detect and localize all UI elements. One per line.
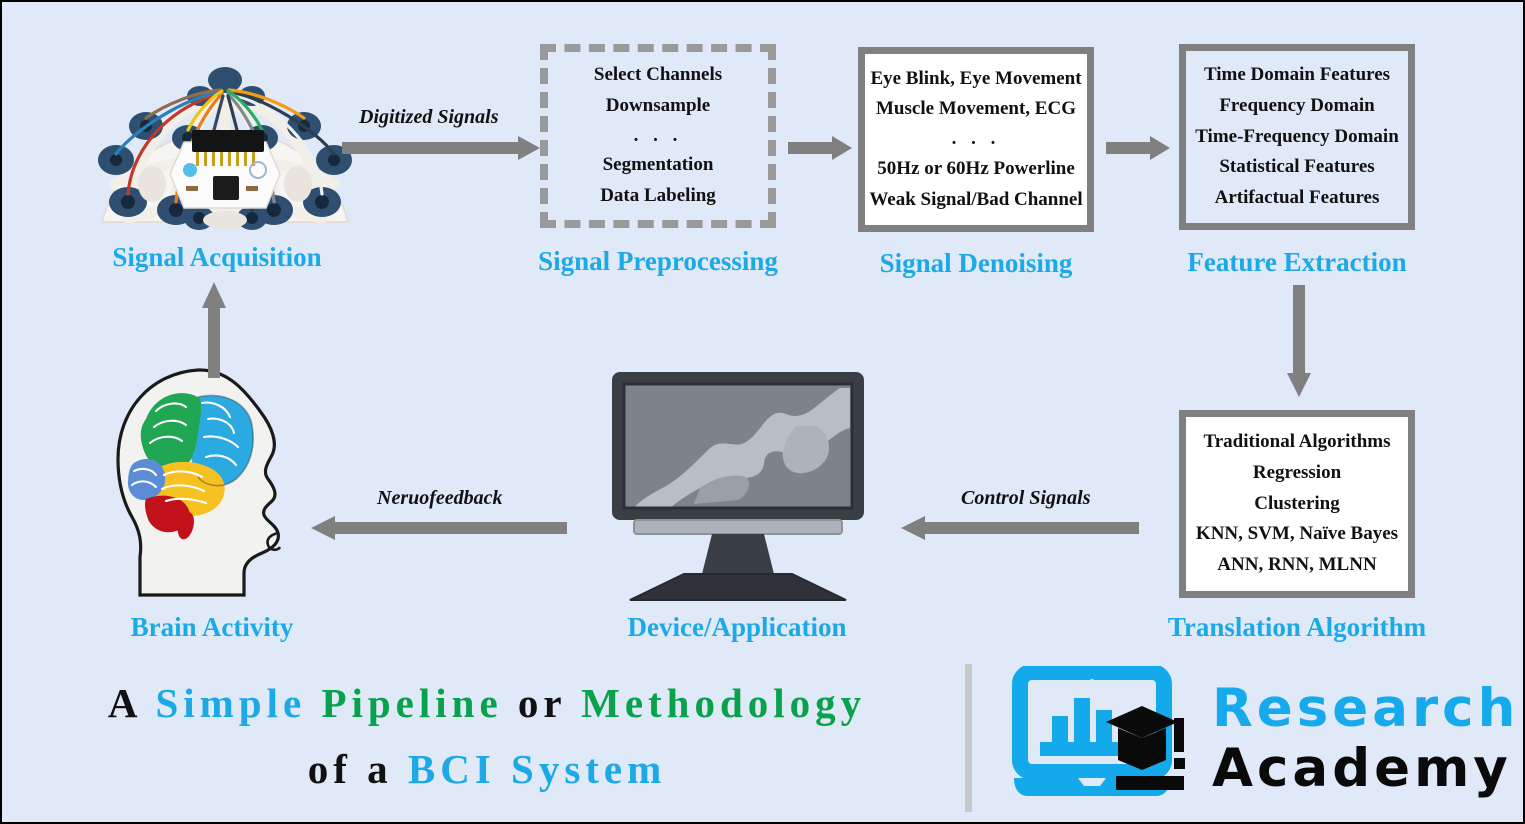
denoising-item-0: Eye Blink, Eye Movement (870, 64, 1081, 95)
stage-label-feature-extraction: Feature Extraction (1177, 247, 1417, 278)
preprocessing-item-1: Downsample (606, 91, 711, 122)
arrow-label-digitized-signals: Digitized Signals (359, 106, 498, 129)
translation-item-3: KNN, SVM, Naïve Bayes (1196, 519, 1398, 550)
logo-text-research: Research (1212, 678, 1519, 739)
stage-label-signal-acquisition: Signal Acquisition (2, 242, 432, 273)
laptop-chart-graduation-cap-icon (1010, 666, 1210, 798)
translation-item-0: Traditional Algorithms (1203, 427, 1390, 458)
arrow-denoising-to-feature-extraction (1106, 134, 1172, 162)
page-title: A Simple Pipeline or Methodology of a BC… (32, 670, 942, 820)
arrow-label-control-signals: Control Signals (961, 487, 1091, 510)
arrow-preprocessing-to-denoising (788, 134, 854, 162)
denoising-item-4: Weak Signal/Bad Channel (869, 185, 1082, 216)
denoising-item-1: Muscle Movement, ECG (876, 94, 1076, 125)
preprocessing-item-3: Segmentation (603, 150, 714, 181)
monitor-device-image (610, 370, 866, 604)
feature-item-1: Frequency Domain (1219, 91, 1374, 122)
footer-divider (965, 664, 972, 812)
preprocessing-item-4: Data Labeling (600, 181, 716, 212)
translation-item-1: Regression (1253, 458, 1341, 489)
box-translation-algorithm: Traditional Algorithms Regression Cluste… (1179, 410, 1415, 598)
logo-text-academy: Academy (1212, 738, 1512, 799)
denoising-item-2: . . . (952, 125, 1001, 154)
arrow-acquisition-to-preprocessing (342, 134, 542, 162)
box-feature-extraction: Time Domain Features Frequency Domain Ti… (1179, 44, 1415, 230)
arrow-feature-extraction-to-translation (1285, 285, 1313, 399)
stage-label-brain-activity: Brain Activity (82, 612, 342, 643)
translation-item-4: ANN, RNN, MLNN (1217, 550, 1376, 581)
title-word-of-a: of a (308, 746, 393, 792)
arrow-translation-to-device (901, 514, 1139, 542)
feature-item-0: Time Domain Features (1204, 60, 1390, 91)
denoising-item-3: 50Hz or 60Hz Powerline (877, 154, 1075, 185)
stage-label-signal-denoising: Signal Denoising (856, 248, 1096, 279)
page-title-line-1: A Simple Pipeline or Methodology (32, 670, 942, 736)
feature-item-2: Time-Frequency Domain (1195, 122, 1399, 153)
title-word-bci-system: BCI System (408, 746, 666, 792)
stage-label-translation-algorithm: Translation Algorithm (1147, 612, 1447, 643)
title-word-a: A (108, 680, 140, 726)
title-word-methodology: Methodology (581, 680, 866, 726)
box-signal-denoising: Eye Blink, Eye Movement Muscle Movement,… (858, 47, 1094, 232)
title-word-pipeline: Pipeline (321, 680, 502, 726)
page-title-line-2: of a BCI System (32, 736, 942, 802)
arrow-brain-to-acquisition (200, 282, 228, 378)
feature-item-4: Artifactual Features (1215, 183, 1380, 214)
title-word-or: or (518, 680, 566, 726)
arrow-device-to-brain (311, 514, 567, 542)
box-signal-preprocessing: Select Channels Downsample . . . Segment… (540, 44, 776, 228)
preprocessing-item-2: . . . (634, 122, 683, 151)
eeg-headset-image (80, 34, 370, 239)
stage-label-signal-preprocessing: Signal Preprocessing (508, 246, 808, 277)
title-word-simple: Simple (155, 680, 306, 726)
translation-item-2: Clustering (1254, 489, 1340, 520)
brain-activity-image (102, 367, 320, 612)
bci-pipeline-infographic: Signal Acquisition Digitized Signals Sel… (2, 2, 1523, 822)
feature-item-3: Statistical Features (1219, 152, 1374, 183)
arrow-label-neurofeedback: Neruofeedback (377, 487, 503, 510)
stage-label-device-application: Device/Application (597, 612, 877, 643)
preprocessing-item-0: Select Channels (594, 60, 722, 91)
